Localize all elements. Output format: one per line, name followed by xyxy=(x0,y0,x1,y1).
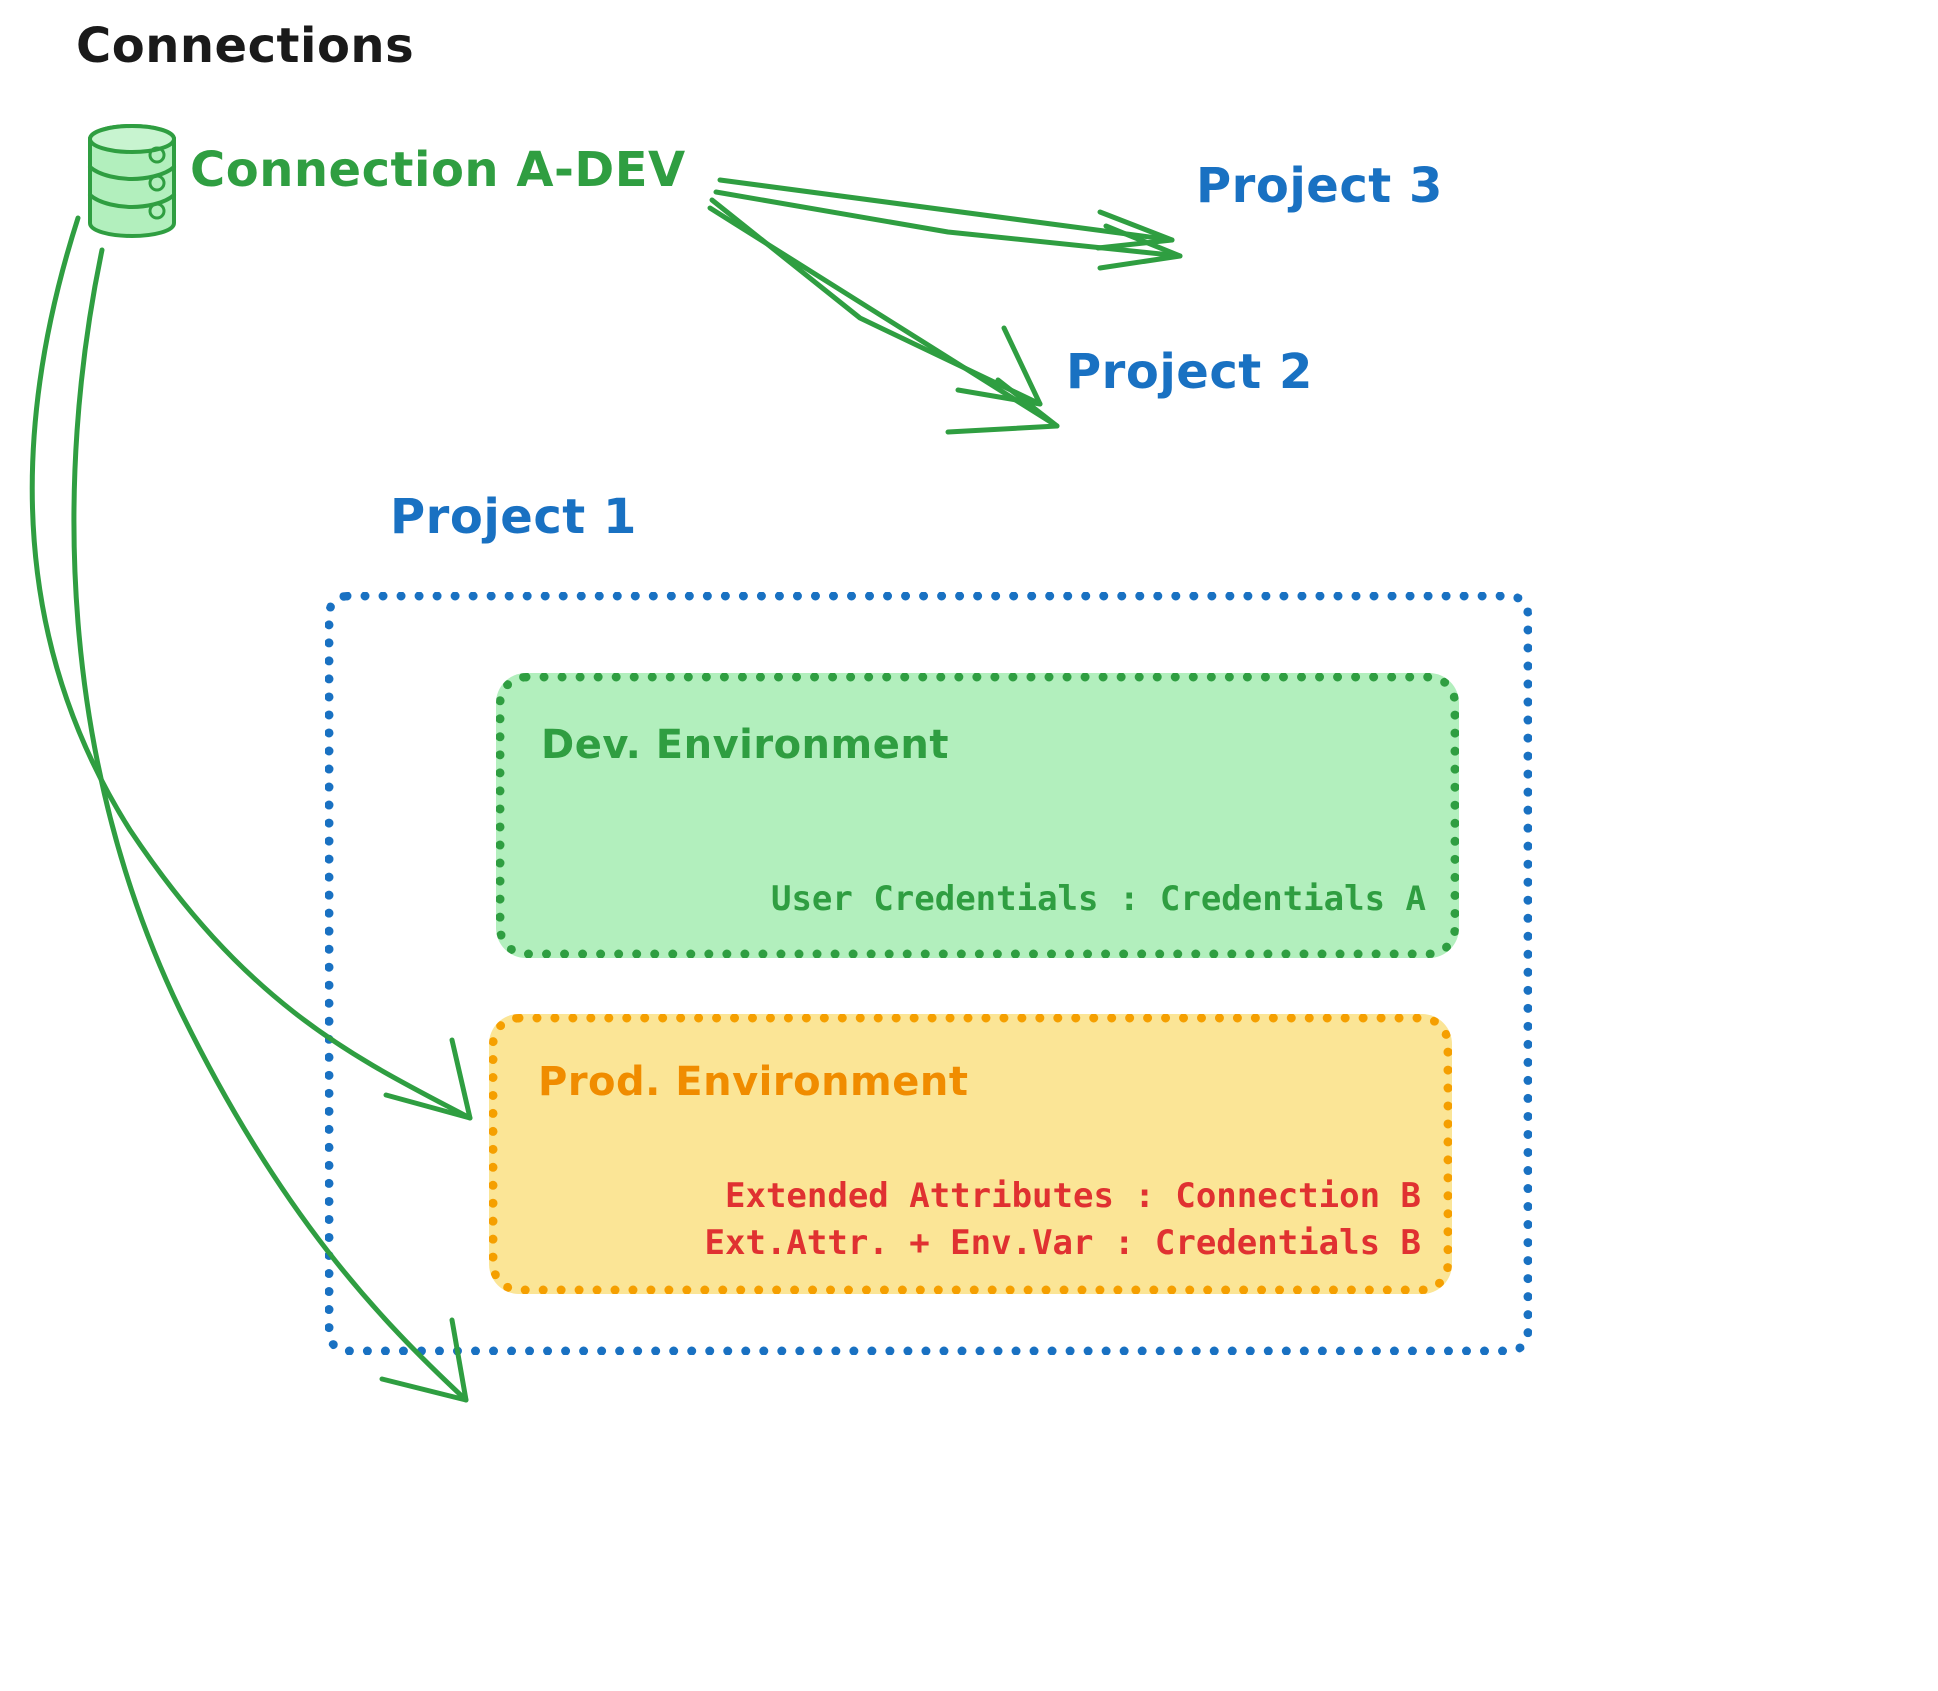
edge-connection-to-project-3-a xyxy=(720,180,1172,248)
prod-environment-attribute-lines: Extended Attributes : Connection B Ext.A… xyxy=(705,1173,1421,1267)
diagram-canvas: Connections Connection A-DEV Project 3 P… xyxy=(0,0,1938,1691)
project-2-label[interactable]: Project 2 xyxy=(1066,344,1313,400)
dev-environment-credentials-line: User Credentials : Credentials A xyxy=(771,879,1426,919)
page-title: Connections xyxy=(76,18,414,74)
prod-environment-box[interactable]: Prod. Environment Extended Attributes : … xyxy=(489,1014,1452,1294)
dev-environment-box[interactable]: Dev. Environment User Credentials : Cred… xyxy=(496,673,1459,958)
dev-environment-title: Dev. Environment xyxy=(541,722,949,768)
prod-extended-attributes-line: Extended Attributes : Connection B xyxy=(705,1173,1421,1220)
project-3-label[interactable]: Project 3 xyxy=(1196,158,1443,214)
database-icon xyxy=(84,122,180,240)
project-1-label[interactable]: Project 1 xyxy=(390,489,637,545)
edge-connection-to-project-2-b xyxy=(710,208,1057,432)
prod-environment-title: Prod. Environment xyxy=(538,1059,968,1105)
edge-connection-to-project-3-b xyxy=(716,192,1180,268)
edge-connection-to-project-2-a xyxy=(712,200,1040,404)
connection-a-dev-label[interactable]: Connection A-DEV xyxy=(190,142,686,198)
prod-ext-attr-env-var-line: Ext.Attr. + Env.Var : Credentials B xyxy=(705,1220,1421,1267)
